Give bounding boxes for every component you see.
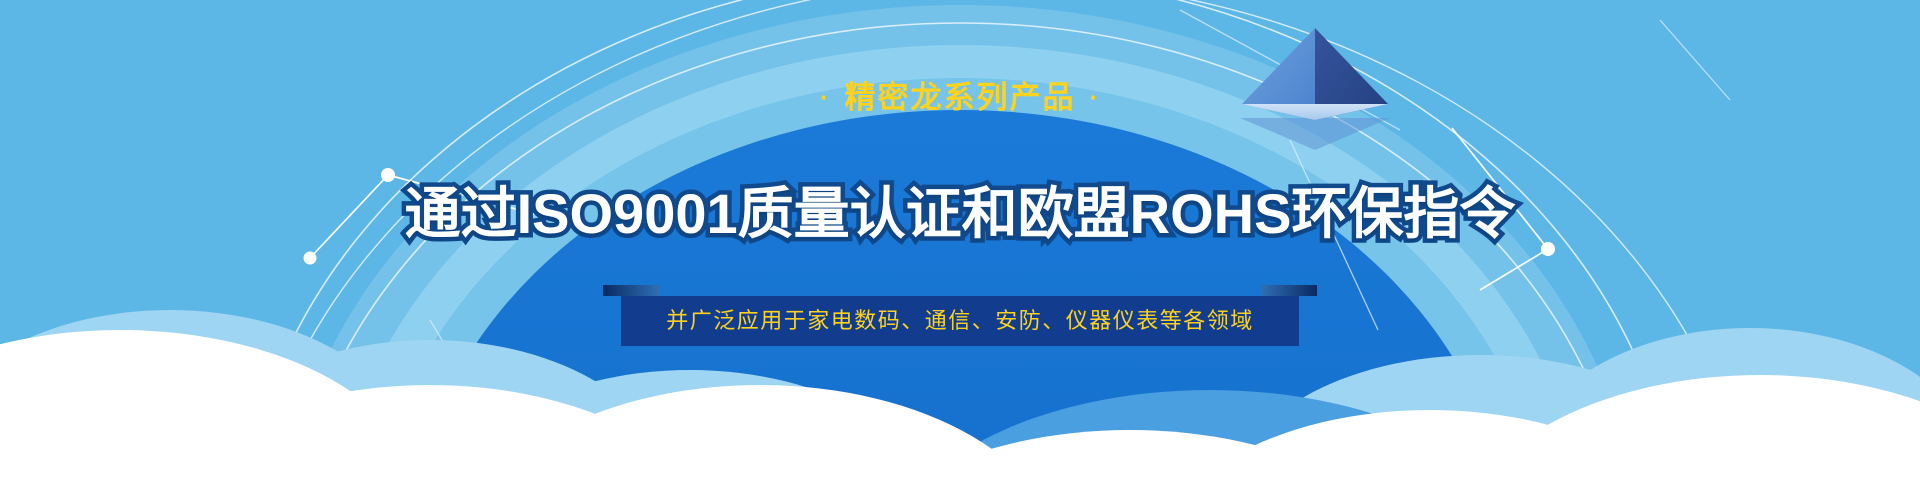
banner-background-art (0, 0, 1920, 480)
promo-banner: ·精密龙系列产品· 通过ISO9001质量认证和欧盟ROHS环保指令 并广泛应用… (0, 0, 1920, 480)
